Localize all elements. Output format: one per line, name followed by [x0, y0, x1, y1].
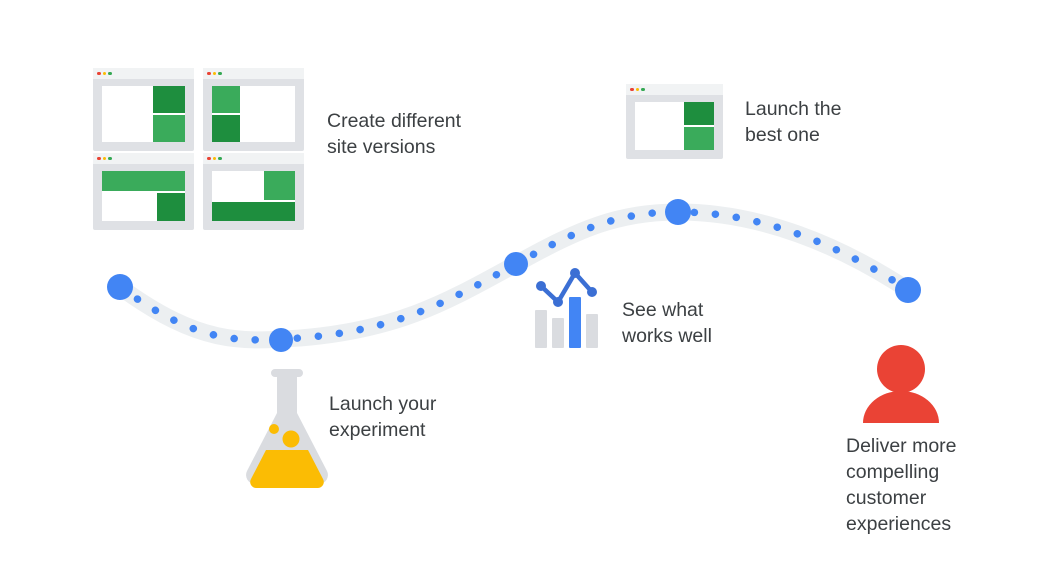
content-block-light [684, 127, 714, 150]
browser-content [102, 171, 185, 221]
content-block-dark [684, 102, 714, 125]
milestone-node-launch-experiment[interactable] [269, 328, 293, 352]
milestone-node-see-what-works[interactable] [504, 252, 528, 276]
milestone-node-launch-best[interactable] [665, 199, 691, 225]
window-minimize-dot-icon [103, 157, 107, 161]
browser-window-variant-b[interactable] [203, 68, 304, 151]
window-close-dot-icon [97, 157, 101, 161]
chart-line-point-3 [570, 268, 580, 278]
window-close-dot-icon [630, 88, 634, 92]
browser-content [102, 86, 185, 142]
window-maximize-dot-icon [218, 72, 222, 76]
flask-bubble-large [283, 431, 300, 448]
window-maximize-dot-icon [108, 72, 112, 76]
browser-titlebar [203, 153, 304, 164]
person-head [877, 345, 925, 393]
content-block-dark [157, 193, 185, 221]
chart-line-point-2 [553, 297, 563, 307]
window-minimize-dot-icon [213, 157, 217, 161]
chart-bar-2 [552, 318, 564, 348]
chart-bar-1 [535, 310, 547, 348]
window-minimize-dot-icon [213, 72, 217, 76]
caption-deliver-experiences: Deliver more compelling customer experie… [846, 433, 1021, 537]
curve-dots [120, 212, 908, 340]
caption-launch-experiment: Launch your experiment [329, 391, 499, 443]
content-block-light [212, 86, 240, 113]
analytics-chart-svg [533, 268, 605, 348]
window-close-dot-icon [97, 72, 101, 76]
content-block-light [102, 171, 185, 191]
browser-titlebar [626, 84, 723, 95]
chart-line-point-4 [587, 287, 597, 297]
chart-bar-4 [586, 314, 598, 348]
window-close-dot-icon [207, 72, 211, 76]
person-icon [861, 345, 941, 423]
analytics-chart-icon [533, 268, 605, 348]
browser-content [212, 171, 295, 221]
curve-track [120, 212, 908, 340]
browser-titlebar [93, 68, 194, 79]
browser-titlebar [93, 153, 194, 164]
content-block-dark [212, 202, 295, 222]
chart-bar-3-highlighted [569, 297, 581, 348]
browser-window-variant-d[interactable] [203, 153, 304, 230]
window-close-dot-icon [207, 157, 211, 161]
caption-launch-best: Launch the best one [745, 96, 905, 148]
window-maximize-dot-icon [108, 157, 112, 161]
content-block-dark [212, 115, 240, 142]
infographic-canvas: Create different site versions Launch th… [0, 0, 1064, 568]
browser-window-variant-a[interactable] [93, 68, 194, 151]
browser-content [212, 86, 295, 142]
browser-content [635, 102, 714, 150]
content-block-light [264, 171, 295, 200]
window-minimize-dot-icon [103, 72, 107, 76]
browser-window-variant-c[interactable] [93, 153, 194, 230]
milestone-node-start[interactable] [107, 274, 133, 300]
window-maximize-dot-icon [218, 157, 222, 161]
milestone-node-end[interactable] [895, 277, 921, 303]
window-maximize-dot-icon [641, 88, 645, 92]
chart-trend-line [541, 273, 592, 302]
caption-see-what-works: See what works well [622, 297, 772, 349]
browser-titlebar [203, 68, 304, 79]
content-block-light [153, 115, 185, 142]
browser-window-winning-variant[interactable] [626, 84, 723, 159]
window-minimize-dot-icon [636, 88, 640, 92]
content-block-dark [153, 86, 185, 113]
caption-create-versions: Create different site versions [327, 108, 507, 160]
flask-icon [239, 363, 335, 488]
person-shoulders [863, 391, 939, 423]
chart-line-point-1 [536, 281, 546, 291]
flask-bubble-small [269, 424, 279, 434]
